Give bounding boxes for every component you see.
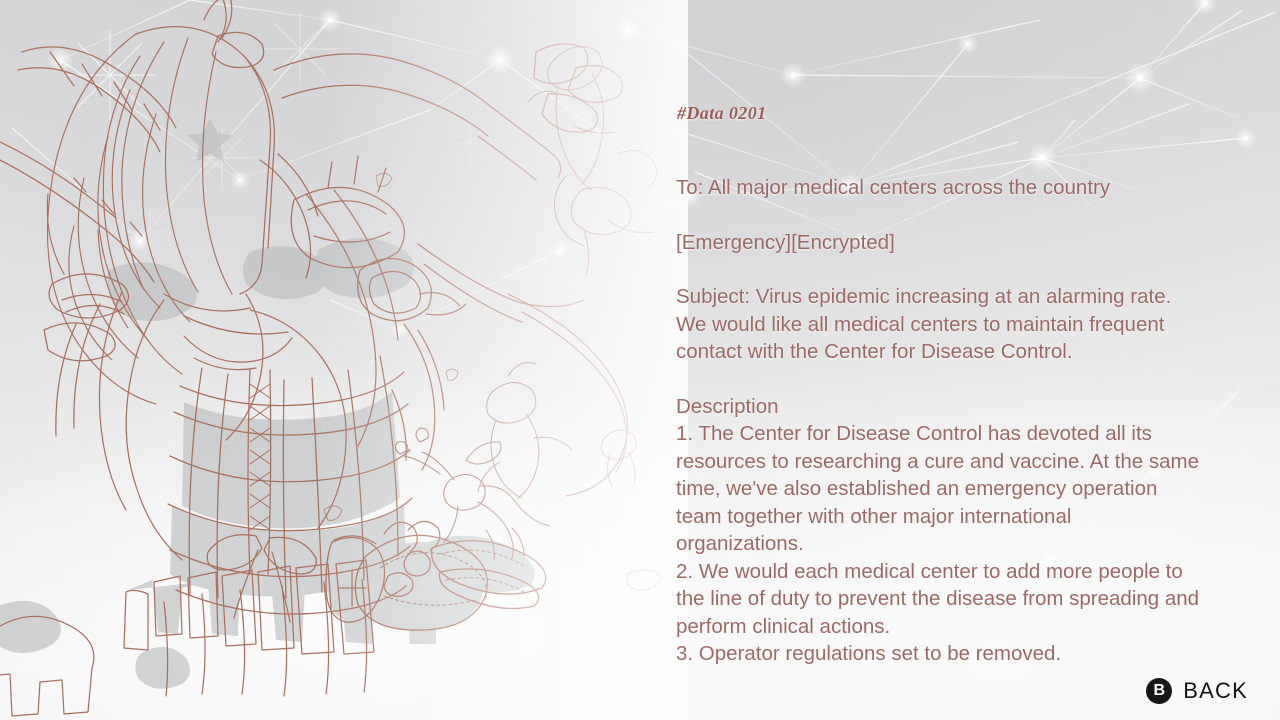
gamepad-b-button-icon[interactable]: B: [1146, 678, 1172, 704]
message-tags: [Emergency][Encrypted]: [676, 229, 1204, 257]
description-item-3: 3. Operator regulations set to be remove…: [676, 640, 1204, 668]
message-body: To: All major medical centers across the…: [676, 174, 1204, 668]
back-button[interactable]: B BACK: [1146, 678, 1248, 704]
data-entry-id: #Data 0201: [677, 103, 767, 124]
spacer: [676, 256, 1204, 283]
spacer: [676, 366, 1204, 393]
data-archive-screen: #Data 0201 To: All major medical centers…: [0, 0, 1280, 720]
message-subject: Subject: Virus epidemic increasing at an…: [676, 283, 1204, 366]
description-heading: Description: [676, 393, 1204, 421]
description-item-2: 2. We would each medical center to add m…: [676, 558, 1204, 641]
back-button-label: BACK: [1183, 678, 1248, 704]
message-panel: #Data 0201 To: All major medical centers…: [676, 0, 1212, 720]
description-item-1: 1. The Center for Disease Control has de…: [676, 420, 1204, 558]
spacer: [676, 202, 1204, 229]
message-recipient: To: All major medical centers across the…: [676, 174, 1204, 202]
